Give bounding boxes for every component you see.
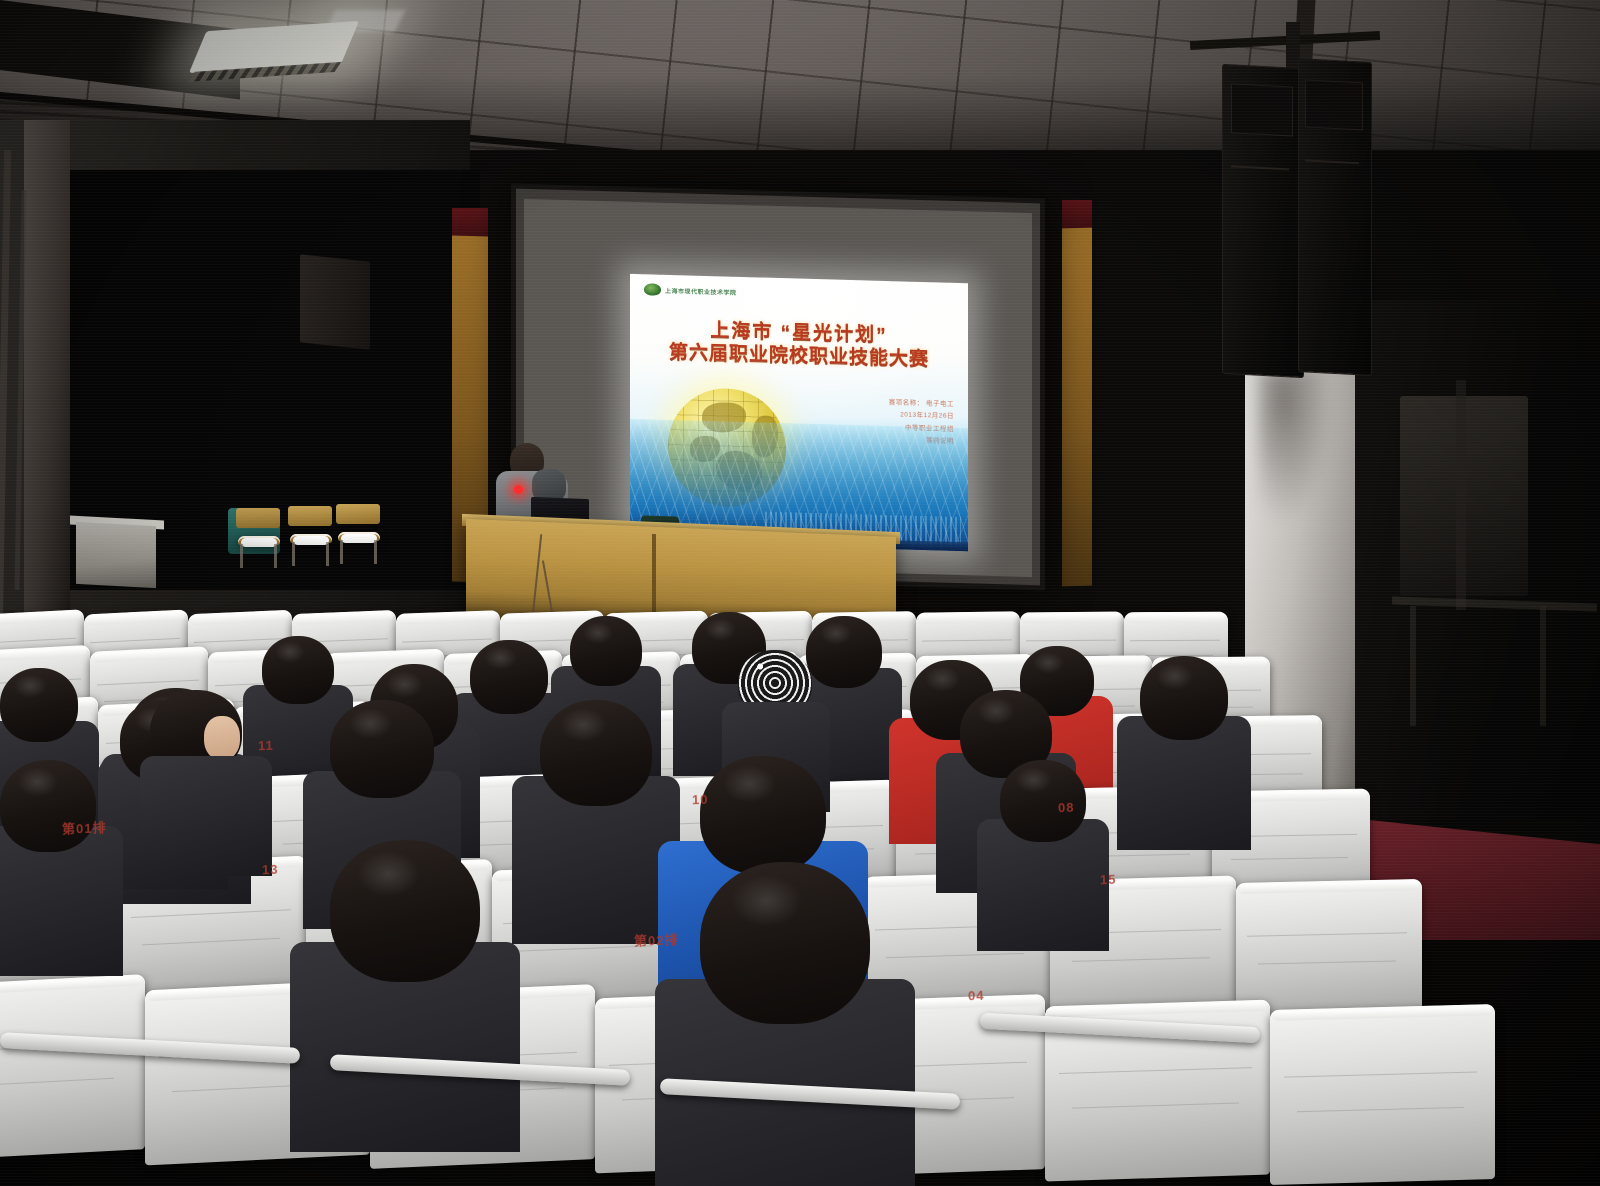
slide-logo-text: 上海市现代职业技术学院: [665, 285, 737, 296]
slide-title: 上海市 “星光计划” 第六届职业院校职业技能大赛: [630, 318, 968, 374]
seat-number-marking: 13: [262, 862, 279, 878]
cover-fold: [1297, 1106, 1464, 1111]
indicator-light-icon: [514, 485, 523, 494]
cover-fold: [922, 640, 1011, 642]
cover-fold: [1059, 1066, 1253, 1073]
auditorium-seat[interactable]: [1270, 1004, 1495, 1185]
door-frame: [1456, 380, 1466, 610]
cover-fold: [90, 638, 179, 643]
hair-highlight: [723, 765, 776, 803]
wall-speaker-left: [300, 254, 370, 349]
cover-fold: [0, 638, 76, 644]
seat-number-marking: 第01排: [62, 817, 107, 838]
audience-head: [0, 760, 96, 852]
hair-highlight: [925, 666, 960, 692]
wall-accent-band-left: [452, 208, 488, 238]
audience-head: [262, 636, 334, 704]
audience-face: [204, 716, 240, 760]
audience-head: [806, 616, 882, 688]
cover-fold: [886, 953, 1024, 958]
wooden-chair: [336, 504, 380, 562]
wooden-chair: [236, 508, 280, 566]
guard-rail-leg: [1540, 606, 1546, 726]
auditorium-seat[interactable]: [0, 974, 145, 1161]
hair-highlight: [705, 618, 736, 641]
audience-head: [700, 756, 826, 874]
chair-leg: [374, 540, 377, 564]
chair-leg: [292, 542, 295, 566]
hair-highlight: [17, 767, 57, 796]
seat-number-marking: 15: [1100, 872, 1117, 888]
hair-highlight: [349, 708, 393, 739]
seat-number-marking: 04: [968, 988, 985, 1004]
audience-head: [0, 668, 78, 742]
audience-head: [330, 700, 434, 798]
left-pillar: [24, 120, 70, 640]
cover-fold: [1130, 640, 1219, 641]
cover-fold: [1284, 1071, 1478, 1077]
hair-highlight: [583, 622, 613, 644]
seat-number-marking: 08: [1058, 800, 1075, 816]
ceiling-speaker-secondary: [1298, 58, 1372, 376]
cover-fold: [514, 945, 652, 951]
chair-back: [288, 506, 332, 526]
cover-fold: [1072, 1102, 1239, 1108]
auditorium-photo: 上海市现代职业技术学院 上海市 “星光计划” 第六届职业院校职业技能大赛 赛项名…: [0, 0, 1600, 1186]
guard-rail-leg: [1410, 606, 1416, 726]
chair-leg: [340, 540, 343, 564]
hair-highlight: [484, 646, 517, 670]
hair-highlight: [1015, 767, 1051, 793]
cover-fold: [0, 1077, 114, 1087]
wall-panel-right: [1062, 228, 1092, 587]
chair-back: [236, 508, 280, 528]
wooden-chair: [288, 506, 332, 564]
cover-fold: [1258, 961, 1396, 965]
audience-head: [470, 640, 548, 714]
seat-number-marking: 第02排: [634, 929, 679, 950]
hair-highlight: [977, 697, 1016, 725]
chair-back: [336, 504, 380, 524]
audience-head: [540, 700, 652, 806]
school-emblem-icon: [644, 283, 661, 295]
speaker-seam: [1231, 165, 1289, 170]
hair-highlight: [1033, 652, 1064, 674]
cover-fold: [1026, 640, 1115, 642]
speaker-seam: [1305, 159, 1359, 164]
right-pillar-shadow: [1258, 370, 1332, 520]
cover-fold: [402, 639, 491, 643]
cover-fold: [131, 909, 291, 918]
audience-head: [700, 862, 870, 1024]
cover-fold: [194, 638, 283, 643]
speaker-horn: [1231, 83, 1293, 136]
hair-highlight: [14, 674, 47, 698]
hair-highlight: [386, 671, 423, 699]
audience-head: [330, 840, 480, 982]
audience-head: [570, 616, 642, 686]
wall-accent-band-right: [1062, 200, 1092, 230]
audience-torso: [140, 756, 272, 876]
chair-leg: [240, 544, 243, 568]
chair-leg: [274, 544, 277, 568]
chair-leg: [326, 542, 329, 566]
cover-fold: [142, 938, 280, 946]
seat-number-marking: 10: [692, 792, 709, 808]
hair-highlight: [1156, 663, 1193, 690]
ceiling-speaker: [1222, 64, 1304, 378]
speaker-horn: [1305, 79, 1363, 130]
audience-head: [1140, 656, 1228, 740]
hair-highlight: [357, 851, 420, 896]
seat-number-marking: 11: [258, 738, 274, 754]
side-desk: [76, 522, 156, 588]
slide-logo: 上海市现代职业技术学院: [644, 283, 737, 298]
cover-fold: [97, 679, 198, 685]
hair-highlight: [820, 622, 852, 645]
presentation-slide: 上海市现代职业技术学院 上海市 “星光计划” 第六届职业院校职业技能大赛 赛项名…: [630, 274, 968, 551]
cover-fold: [1231, 857, 1348, 860]
hair-highlight: [560, 708, 607, 742]
hair-highlight: [731, 875, 802, 927]
cover-fold: [1072, 957, 1210, 962]
cover-fold: [1247, 933, 1407, 937]
hair-highlight: [275, 641, 305, 663]
